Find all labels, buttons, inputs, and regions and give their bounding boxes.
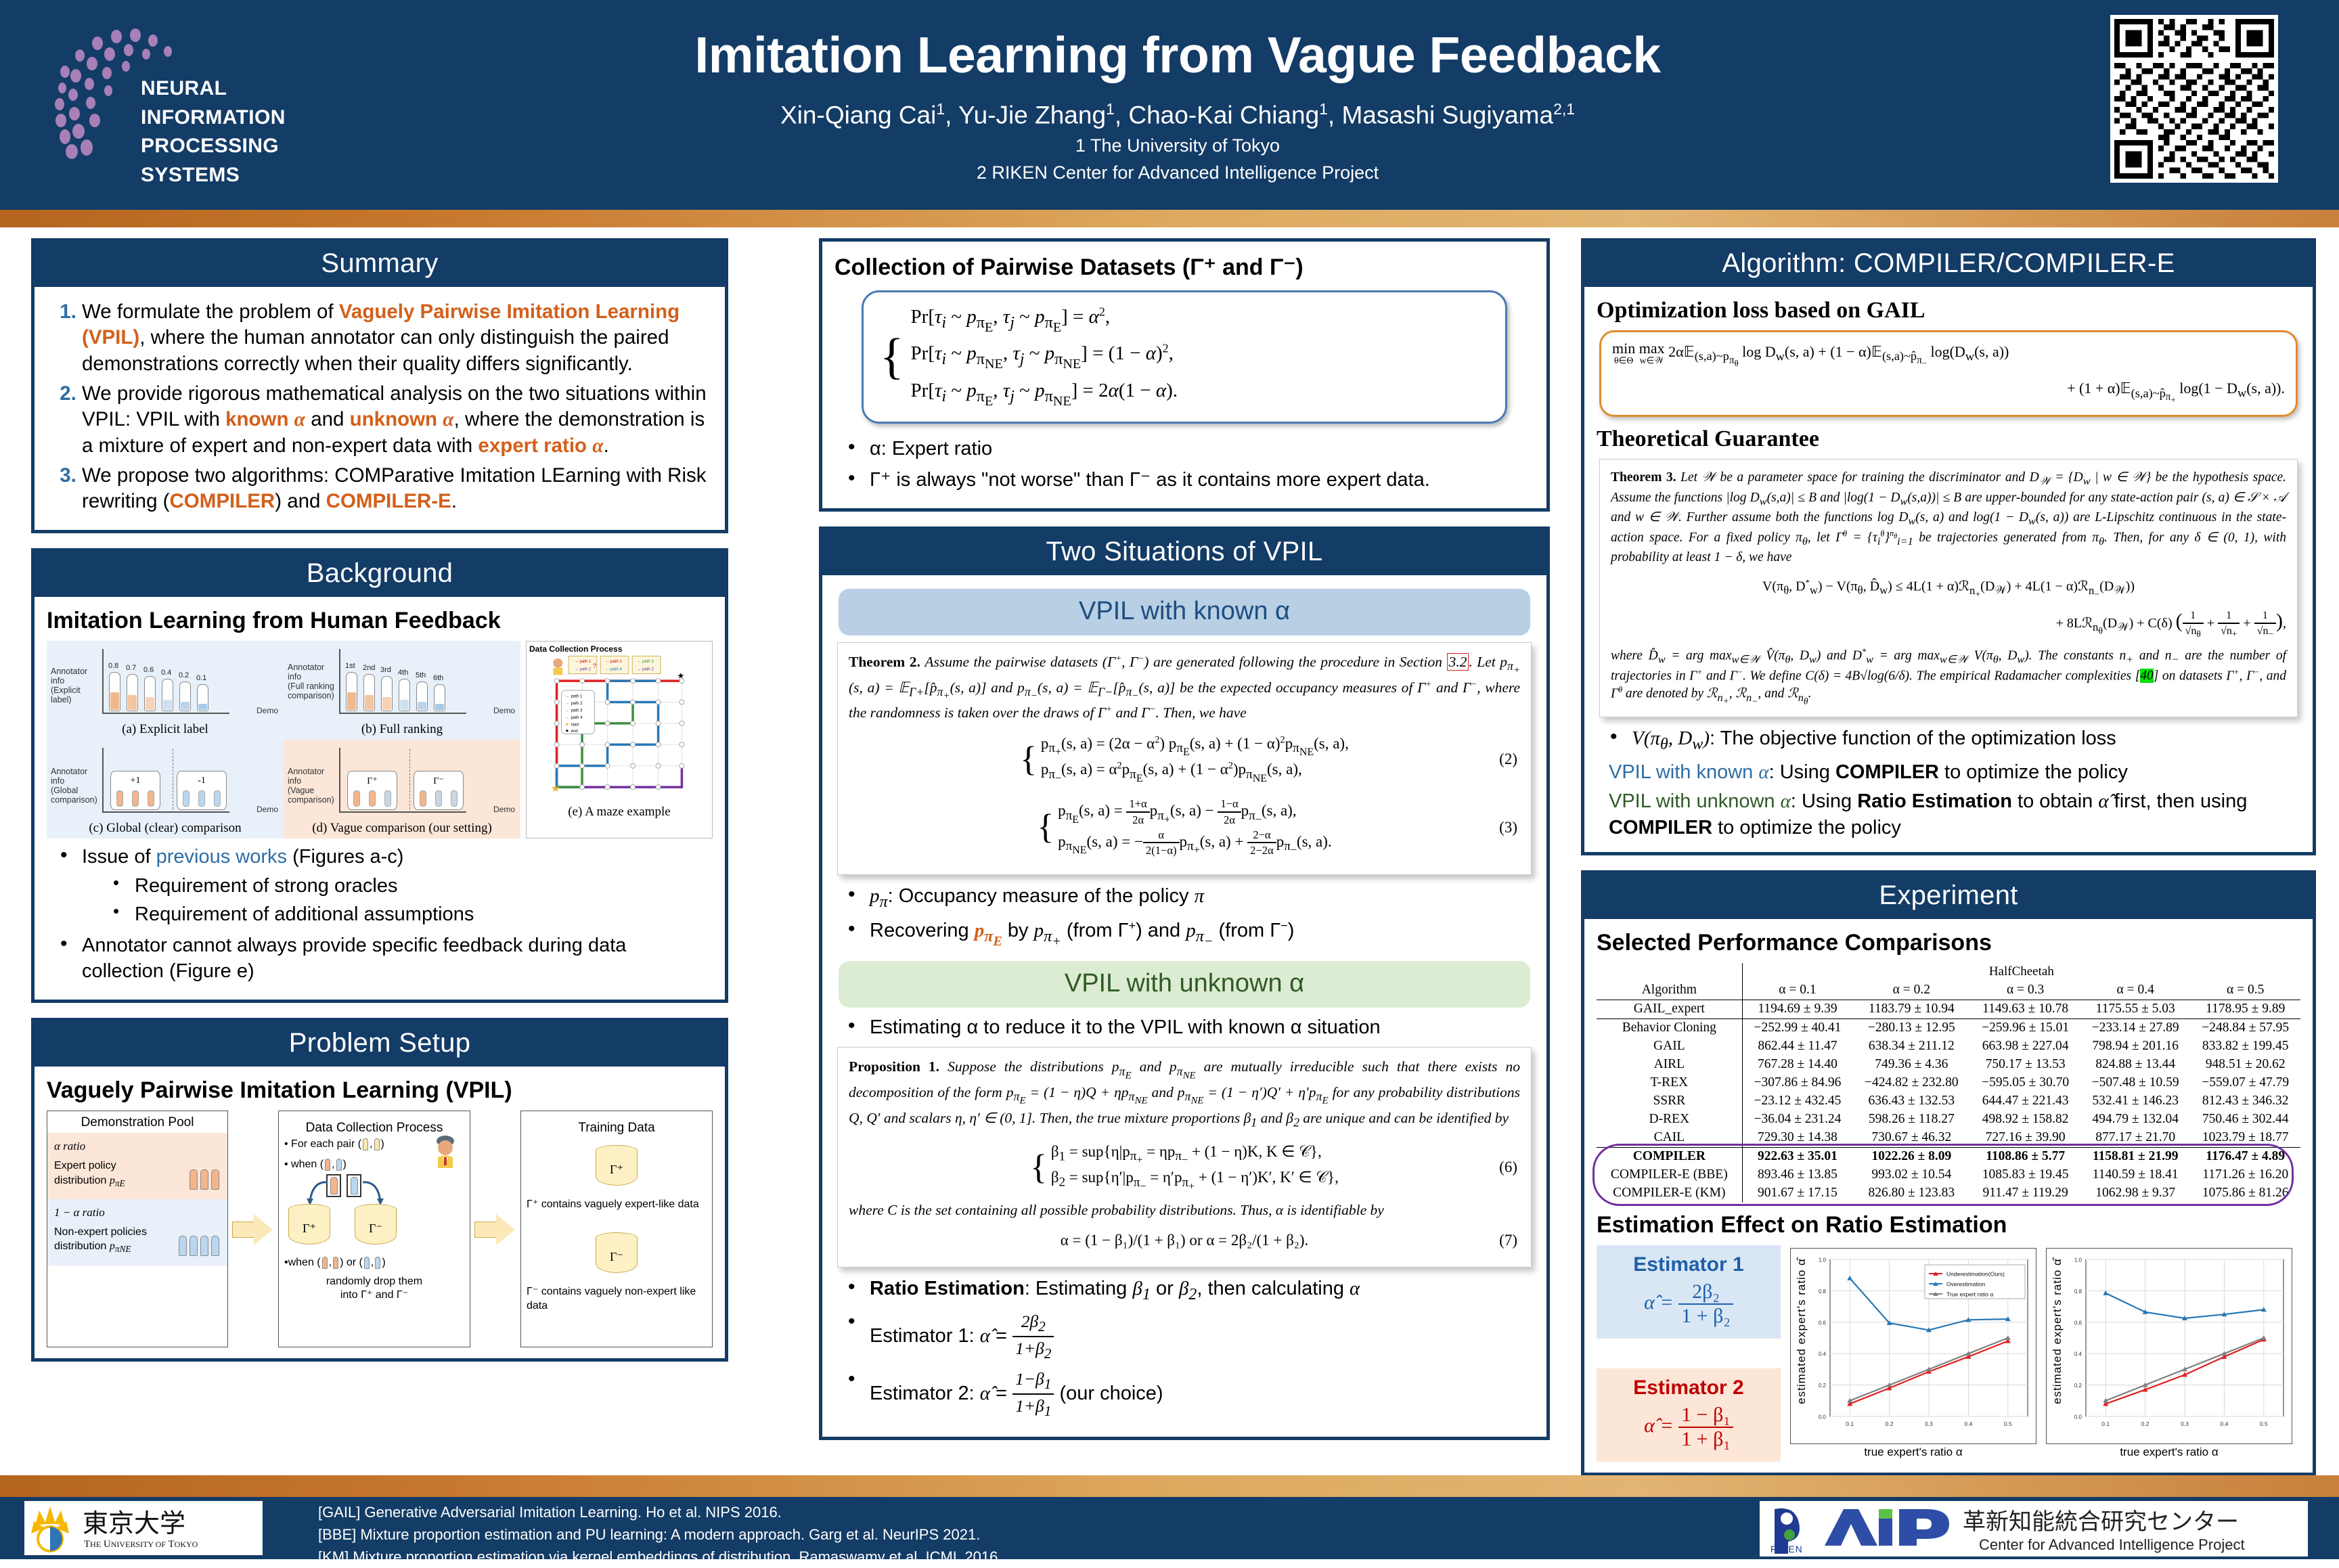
table-cell-value: 498.92 ± 158.82 [1970, 1111, 2080, 1129]
table-row: COMPILER-E (KM)901.67 ± 17.15826.80 ± 12… [1597, 1184, 2300, 1203]
svg-text:0.4: 0.4 [2074, 1351, 2082, 1358]
svg-text:★: ★ [565, 728, 569, 734]
figure-c-value-2: -1 [177, 776, 226, 786]
theorem-3-citation[interactable]: 40 [2140, 669, 2154, 683]
collection-gamma-plus: Γ⁺ [288, 1222, 330, 1236]
figure-c-annot-1: Annotator info [51, 767, 101, 786]
figure-d-annot-1: Annotator info [288, 767, 338, 786]
maze-diagram-icon: → path 1→ path 2 ? → path 1→ path 4 → pa… [529, 654, 709, 801]
table-cell-value: 893.46 ± 13.85 [1742, 1166, 1852, 1184]
summary-item-1: We formulate the problem of Vaguely Pair… [82, 299, 713, 377]
figure-a-explicit-label: Annotator info (Explicit label) Demo 0.8… [47, 641, 284, 740]
svg-text:★: ★ [551, 783, 560, 794]
reference-gail: [GAIL] Generative Adversarial Imitation … [318, 1501, 1002, 1523]
theorem-3-body: Let 𝒲 be a parameter space for training … [1611, 470, 2286, 564]
summary-highlight-vpil: Vaguely Pairwise Imitation Learning (VPI… [82, 300, 680, 349]
table-cell-value: −307.86 ± 84.96 [1742, 1074, 1852, 1092]
performance-table-wrap: HalfCheetah Algorithm α = 0.1 α = 0.2 α … [1597, 963, 2300, 1203]
experiment-subhead-charts: Estimation Effect on Ratio Estimation [1597, 1212, 2300, 1238]
table-cell-algorithm: D-REX [1597, 1111, 1742, 1129]
table-row: COMPILER922.63 ± 35.011022.26 ± 8.091108… [1597, 1147, 2300, 1166]
pairwise-eq-1: Pr[τi ~ pπE, τj ~ pπE] = α2, [911, 302, 1178, 338]
svg-text:→ path 1: → path 1 [605, 659, 622, 664]
table-cell-value: 1062.98 ± 9.37 [2080, 1184, 2191, 1203]
estimator-1-title: Estimator 1 [1601, 1253, 1777, 1276]
svg-text:→: → [565, 715, 569, 720]
estimator-1-formula: α̂ = 2β₂1 + β₂ [1601, 1280, 1777, 1328]
table-row: SSRR−23.12 ± 432.45636.43 ± 132.53644.47… [1597, 1092, 2300, 1111]
table-cell-value: 911.47 ± 119.29 [1970, 1184, 2080, 1203]
right-column: Algorithm: COMPILER/COMPILER-E Optimizat… [1581, 238, 2316, 1491]
table-cell-algorithm: GAIL [1597, 1037, 1742, 1056]
annotator-avatar [430, 1134, 460, 1171]
chart-1-xlabel: true expert's ratio α [1790, 1446, 2036, 1459]
proposition-1-label: Proposition 1. [849, 1058, 939, 1075]
table-row: D-REX−36.04 ± 231.24598.26 ± 118.27498.9… [1597, 1111, 2300, 1129]
riken-aip-logo-icon: RIKEN 革新知能統合研究センター Center for Advanced I… [1760, 1501, 2308, 1556]
chart-1-container: estimated expert's ratio α̂ 0.00.20.40.6… [1790, 1248, 2036, 1459]
poster-affiliation-2: 2 RIKEN Center for Advanced Intelligence… [582, 162, 1773, 183]
svg-text:RIKEN: RIKEN [1770, 1544, 1803, 1554]
proposition-1-equation-7: α = (1 − β₁)/(1 + β₁) or α = 2β₂/(1 + β₂… [849, 1230, 1520, 1251]
proposition-1-eq7-number: (7) [1499, 1230, 1517, 1251]
qr-code-icon [2114, 19, 2274, 179]
theorem-2-section-ref[interactable]: 3.2 [1447, 653, 1469, 671]
table-header-env-row: HalfCheetah [1597, 963, 2300, 981]
performance-table: HalfCheetah Algorithm α = 0.1 α = 0.2 α … [1597, 963, 2300, 1203]
theorem-2-body: Assume the pairwise datasets (Γ+, Γ−) ar… [849, 654, 1520, 721]
pool-expert-tubes [188, 1169, 221, 1190]
table-cell-value: 730.67 ± 46.32 [1852, 1129, 1970, 1148]
background-bullet-1-sub-2: Requirement of additional assumptions [112, 901, 713, 927]
table-cell-value: 922.63 ± 35.01 [1742, 1147, 1852, 1166]
svg-text:Underestimation(Ours): Underestimation(Ours) [1946, 1270, 2005, 1277]
svg-text:path 1: path 1 [571, 694, 583, 698]
chart-2-container: estimated expert's ratio α̂ 0.00.20.40.6… [2046, 1248, 2292, 1459]
figure-c-caption: (c) Global (clear) comparison [51, 821, 280, 836]
table-cell-value: 1085.83 ± 19.45 [1970, 1166, 2080, 1184]
algorithm-subhead-theory: Theoretical Guarantee [1597, 426, 2300, 452]
background-figure-grid: Annotator info (Explicit label) Demo 0.8… [47, 641, 520, 838]
unknown-bullet-1: Estimating α to reduce it to the VPIL wi… [845, 1014, 1534, 1040]
table-cell-value: −23.12 ± 432.45 [1742, 1092, 1852, 1111]
svg-text:Center for Advanced Intelligen: Center for Advanced Intelligence Project [1979, 1536, 2245, 1553]
poster-authors: Xin-Qiang Cai1, Yu-Jie Zhang1, Chao-Kai … [582, 100, 1773, 129]
theorem-2-eq2-number: (2) [1499, 749, 1517, 769]
svg-text:path 2: path 2 [571, 701, 583, 706]
theorem-2-label: Theorem 2. [849, 654, 920, 670]
table-cell-value: 1171.26 ± 16.20 [2190, 1166, 2300, 1184]
figure-b-annot-2: (Full ranking [288, 681, 338, 691]
svg-text:0.5: 0.5 [2004, 1420, 2012, 1427]
panel-background: Background Imitation Learning from Human… [31, 548, 728, 1003]
figure-d-caption: (d) Vague comparison (our setting) [288, 821, 516, 836]
figure-a-axis-label: Demo [257, 706, 278, 715]
collection-line-5: into Γ⁺ and Γ⁻ [284, 1288, 464, 1301]
panel-title-two-situations: Two Situations of VPIL [822, 530, 1546, 575]
svg-text:0.2: 0.2 [2074, 1383, 2082, 1389]
svg-text:0.2: 0.2 [1886, 1420, 1894, 1427]
theorem-2-eq3-number: (3) [1499, 817, 1517, 837]
banner-vpil-unknown-alpha: VPIL with unknown α [839, 961, 1530, 1008]
svg-text:1.0: 1.0 [2074, 1257, 2082, 1263]
panel-title-algorithm: Algorithm: COMPILER/COMPILER-E [1584, 242, 2313, 287]
table-col-header-a5: α = 0.5 [2190, 981, 2300, 1000]
svg-text:0.0: 0.0 [2074, 1414, 2082, 1420]
theorem-3-box: Theorem 3. Let 𝒲 be a parameter space fo… [1599, 459, 2298, 717]
table-cell-value: 636.43 ± 132.53 [1852, 1092, 1970, 1111]
table-cell-algorithm: Behavior Cloning [1597, 1018, 1742, 1037]
pool-expert-line1: Expert policy [54, 1159, 125, 1173]
table-cell-algorithm: COMPILER [1597, 1147, 1742, 1166]
chart-1-svg: 0.00.20.40.60.81.00.10.20.30.40.5Underes… [1791, 1249, 2037, 1445]
svg-text:path 3: path 3 [571, 708, 583, 713]
neurips-line-1: NEURAL INFORMATION [141, 74, 324, 132]
summary-highlight-known: known α [225, 408, 305, 430]
chart-1-plot: estimated expert's ratio α̂ 0.00.20.40.6… [1790, 1248, 2036, 1444]
figure-b-annot-3: comparison) [288, 691, 338, 700]
background-figure: Annotator info (Explicit label) Demo 0.8… [47, 641, 713, 838]
collection-bullets: α: Expert ratio Γ⁺ is always "not worse"… [834, 436, 1534, 493]
references-list: [GAIL] Generative Adversarial Imitation … [318, 1501, 1002, 1568]
table-cell-value: −259.96 ± 15.01 [1970, 1018, 2080, 1037]
problem-setup-figure: Demonstration Pool α ratio Expert policy… [47, 1111, 713, 1347]
collection-gamma-minus: Γ⁻ [355, 1222, 397, 1236]
figure-b-axis-label: Demo [493, 706, 515, 715]
svg-text:0.5: 0.5 [2260, 1420, 2268, 1427]
proposition-1-equation-6: { β1 = sup{η|pπ+ = ηpπ− + (1 − η)K, K ∈ … [849, 1142, 1520, 1194]
background-prevworks-link: previous works [156, 846, 287, 868]
svg-text:0.8: 0.8 [2074, 1289, 2082, 1295]
reference-km: [KM] Mixture proportion estimation via k… [318, 1546, 1002, 1568]
table-row: T-REX−307.86 ± 84.96−424.82 ± 232.80−595… [1597, 1074, 2300, 1092]
algorithm-line-unknown: VPIL with unknown α: Using Ratio Estimat… [1609, 788, 2300, 841]
collection-line-4: randomly drop them [284, 1276, 464, 1288]
estimator-2-title: Estimator 2 [1601, 1376, 1777, 1399]
collection-bullet-1: α: Expert ratio [845, 436, 1534, 462]
table-cell-value: 663.98 ± 227.04 [1970, 1037, 2080, 1056]
figure-d-axis-label: Demo [493, 805, 515, 814]
poster-affiliation-1: 1 The University of Tokyo [582, 135, 1773, 156]
svg-text:0.3: 0.3 [1925, 1420, 1933, 1427]
table-col-header-algorithm: Algorithm [1597, 981, 1742, 1000]
collection-line-3: •when (,) or (,) [284, 1257, 464, 1269]
training-desc-minus: Γ⁻ contains vaguely non-expert like data [527, 1285, 707, 1314]
svg-text:0.4: 0.4 [1964, 1420, 1972, 1427]
problem-setup-subhead: Vaguely Pairwise Imitation Learning (VPI… [47, 1077, 713, 1104]
table-col-header-a3: α = 0.3 [1970, 981, 2080, 1000]
neurips-line-2: PROCESSING SYSTEMS [141, 132, 324, 189]
pool-nonexpert-ratio: 1 − α ratio [54, 1206, 221, 1219]
svg-text:0.4: 0.4 [1819, 1351, 1827, 1358]
svg-text:Overestimation: Overestimation [1946, 1280, 1985, 1287]
theorem-3-label: Theorem 3. [1611, 470, 1676, 485]
figure-c-global-comparison: Annotator info (Global comparison) Demo … [47, 740, 284, 838]
figure-c-axis-label: Demo [257, 805, 278, 814]
svg-text:→: → [565, 708, 569, 713]
svg-text:0.6: 0.6 [2074, 1320, 2082, 1326]
panel-summary: Summary We formulate the problem of Vagu… [31, 238, 728, 533]
algorithm-bullets: V(πθ, Dw): The objective function of the… [1597, 725, 2300, 755]
pool-nonexpert-line1: Non-expert policies [54, 1225, 147, 1240]
figure-d-value-1: Γ⁺ [348, 776, 397, 787]
brace-icon: { [880, 342, 904, 373]
table-cell-algorithm: SSRR [1597, 1092, 1742, 1111]
background-bullet-1: Issue of previous works (Figures a-c) Re… [58, 844, 713, 928]
arrow-pool-to-collection [232, 1213, 274, 1245]
svg-text:0.0: 0.0 [1819, 1414, 1827, 1420]
panel-experiment: Experiment Selected Performance Comparis… [1581, 870, 2316, 1476]
table-row: CAIL729.30 ± 14.38730.67 ± 46.32727.16 ±… [1597, 1129, 2300, 1148]
table-row: Behavior Cloning−252.99 ± 40.41−280.13 ±… [1597, 1018, 2300, 1037]
table-cell-value: 532.41 ± 146.23 [2080, 1092, 2191, 1111]
cylinder-gamma-plus-collection: Γ⁺ [288, 1204, 330, 1249]
panel-title-summary: Summary [35, 242, 725, 287]
table-cell-value: 750.46 ± 302.44 [2190, 1111, 2300, 1129]
svg-text:start: start [571, 722, 579, 727]
table-col-header-a2: α = 0.2 [1852, 981, 1970, 1000]
panel-algorithm: Algorithm: COMPILER/COMPILER-E Optimizat… [1581, 238, 2316, 855]
estimator-bullet-2: Estimator 2: α̂ = 1−β11+β1 (our choice) [845, 1368, 1534, 1420]
table-env-name: HalfCheetah [1742, 963, 2300, 981]
table-cell-value: 826.80 ± 123.83 [1852, 1184, 1970, 1203]
summary-item-2: We provide rigorous mathematical analysi… [82, 381, 713, 459]
svg-text:0.3: 0.3 [2181, 1420, 2189, 1427]
training-data-box: Training Data Γ⁺ Γ⁺ contains vaguely exp… [520, 1111, 713, 1347]
figure-a-annot-2: (Explicit label) [51, 686, 101, 704]
summary-list: We formulate the problem of Vaguely Pair… [47, 299, 713, 515]
table-cell-value: −507.48 ± 10.59 [2080, 1074, 2191, 1092]
poster-title: Imitation Learning from Vague Feedback [650, 26, 1706, 84]
table-cell-value: 767.28 ± 14.40 [1742, 1056, 1852, 1074]
table-cell-value: −559.07 ± 47.79 [2190, 1074, 2300, 1092]
table-cell-algorithm: T-REX [1597, 1074, 1742, 1092]
table-cell-value: −595.05 ± 30.70 [1970, 1074, 2080, 1092]
svg-text:THE UNIVERSITY OF TOKYO: THE UNIVERSITY OF TOKYO [84, 1539, 198, 1550]
table-col-header-a1: α = 0.1 [1742, 981, 1852, 1000]
performance-table-body: GAIL_expert1194.69 ± 9.391183.79 ± 10.94… [1597, 1000, 2300, 1203]
table-cell-algorithm: AIRL [1597, 1056, 1742, 1074]
figure-d-value-2: Γ⁻ [414, 776, 463, 787]
estimator-2-num: 1 − β₁ [1678, 1404, 1733, 1427]
figure-e-caption: (e) A maze example [529, 805, 709, 820]
table-cell-value: 993.02 ± 10.54 [1852, 1166, 1970, 1184]
cylinder-gamma-minus-collection: Γ⁻ [355, 1204, 397, 1249]
table-cell-value: 1140.59 ± 18.41 [2080, 1166, 2191, 1184]
riken-aip-logo: RIKEN 革新知能統合研究センター Center for Advanced I… [1760, 1501, 2308, 1556]
svg-text:→ path 2: → path 2 [575, 667, 592, 671]
pool-expert-sub: πE [115, 1178, 125, 1188]
chart-2-plot: estimated expert's ratio α̂ 0.00.20.40.6… [2046, 1248, 2292, 1444]
svg-text:0.1: 0.1 [2101, 1420, 2110, 1427]
table-cell-value: 729.30 ± 14.38 [1742, 1129, 1852, 1148]
table-cell-value: −248.84 ± 57.95 [2190, 1018, 2300, 1037]
svg-text:?: ? [593, 663, 596, 670]
collection-subhead: Collection of Pairwise Datasets (Γ⁺ and … [834, 254, 1534, 281]
table-header-alpha-row: Algorithm α = 0.1 α = 0.2 α = 0.3 α = 0.… [1597, 981, 2300, 1000]
svg-text:東京大学: 東京大学 [83, 1508, 185, 1538]
theorem-3-equation-line-1: V(πθ, D*w) − V(πθ, D̂w) ≤ 4L(1 + α)ℛn+(D… [1611, 577, 2286, 601]
figure-d-vague-comparison: Annotator info (Vague comparison) Demo Γ… [284, 740, 520, 838]
theorem-2-box: Theorem 2. Assume the pairwise datasets … [837, 642, 1532, 875]
qr-code[interactable] [2110, 15, 2278, 183]
svg-text:★: ★ [565, 721, 569, 727]
known-alpha-bullets: pπ: Occupancy measure of the policy π Re… [834, 883, 1534, 950]
figure-a-annot-1: Annotator info [51, 667, 101, 686]
pool-expert-line2: distribution pπE [54, 1173, 125, 1190]
svg-text:0.2: 0.2 [2141, 1420, 2149, 1427]
panel-title-background: Background [35, 552, 725, 597]
training-gamma-minus: Γ⁻ [596, 1250, 638, 1264]
figure-d-annot-2: (Vague comparison) [288, 786, 338, 805]
svg-text:0.8: 0.8 [1819, 1289, 1827, 1295]
estimator-1-card: Estimator 1 α̂ = 2β₂1 + β₂ [1597, 1245, 1781, 1339]
proposition-1-eq7-text: α = (1 − β₁)/(1 + β₁) or α = 2β₂/(1 + β₂… [1061, 1232, 1308, 1249]
table-cell-value: 1023.79 ± 18.77 [2190, 1129, 2300, 1148]
known-bullet-2: Recovering pπE by pπ+ (from Γ+) and pπ− … [845, 918, 1534, 950]
table-cell-value: 1108.86 ± 5.77 [1970, 1147, 2080, 1166]
table-cell-value: 749.36 ± 4.36 [1852, 1056, 1970, 1074]
table-cell-value: 644.47 ± 221.43 [1970, 1092, 2080, 1111]
table-cell-value: 948.51 ± 20.62 [2190, 1056, 2300, 1074]
table-row: GAIL862.44 ± 11.47638.34 ± 211.12663.98 … [1597, 1037, 2300, 1056]
table-cell-value: −36.04 ± 231.24 [1742, 1111, 1852, 1129]
estimator-1-num: 2β₂ [1678, 1280, 1733, 1303]
neurips-wordmark: NEURAL INFORMATION PROCESSING SYSTEMS [141, 74, 324, 189]
table-cell-value: 1022.26 ± 8.09 [1852, 1147, 1970, 1166]
summary-highlight-compiler-e: COMPILER-E [326, 490, 451, 512]
pool-nonexpert-region: 1 − α ratio Non-expert policies distribu… [47, 1199, 227, 1265]
table-cell-value: 1178.95 ± 9.89 [2190, 1000, 2300, 1018]
left-column: Summary We formulate the problem of Vagu… [31, 238, 728, 1376]
table-cell-value: 901.67 ± 17.15 [1742, 1184, 1852, 1203]
table-cell-algorithm: GAIL_expert [1597, 1000, 1742, 1018]
banner-vpil-known-alpha: VPIL with known α [839, 589, 1530, 635]
pairwise-eq-3: Pr[τi ~ pπE, τj ~ pπNE] = 2α(1 − α). [911, 376, 1178, 412]
table-cell-value: −252.99 ± 40.41 [1742, 1018, 1852, 1037]
figure-c-value-1: +1 [111, 776, 160, 786]
algorithm-line-known: VPIL with known α: Using COMPILER to opt… [1609, 759, 2300, 786]
cylinder-gamma-minus-training: Γ⁻ [596, 1232, 638, 1277]
svg-text:→ path 1: → path 1 [575, 659, 592, 664]
panel-two-situations: Two Situations of VPIL VPIL with known α… [819, 527, 1550, 1440]
estimator-2-card: Estimator 2 α̂ = 1 − β₁1 + β₁ [1597, 1368, 1781, 1462]
table-cell-value: 798.94 ± 201.16 [2080, 1037, 2191, 1056]
table-cell-value: 598.26 ± 118.27 [1852, 1111, 1970, 1129]
table-cell-value: 1183.79 ± 10.94 [1852, 1000, 1970, 1018]
table-cell-value: 1176.47 ± 4.89 [2190, 1147, 2300, 1166]
background-bullets: Issue of previous works (Figures a-c) Re… [47, 844, 713, 984]
svg-text:★: ★ [677, 671, 684, 680]
svg-text:0.1: 0.1 [1846, 1420, 1854, 1427]
svg-text:1.0: 1.0 [1819, 1257, 1827, 1263]
background-subhead: Imitation Learning from Human Feedback [47, 608, 713, 634]
table-cell-value: −233.14 ± 27.89 [2080, 1018, 2191, 1037]
estimator-bullets: Ratio Estimation: Estimating β1 or β2, t… [834, 1276, 1534, 1420]
pairwise-probability-equations: { Pr[τi ~ pπE, τj ~ pπE] = α2, Pr[τi ~ p… [862, 290, 1507, 424]
estimator-2-formula: α̂ = 1 − β₁1 + β₁ [1601, 1404, 1777, 1451]
training-data-title: Training Data [527, 1121, 707, 1136]
estimator-cards: Estimator 1 α̂ = 2β₂1 + β₂ Estimator 2 α… [1597, 1245, 1781, 1462]
estimator-2-lhs: α̂ = [1644, 1414, 1674, 1437]
middle-column: Collection of Pairwise Datasets (Γ⁺ and … [819, 238, 1550, 1455]
table-cell-value: 877.17 ± 21.70 [2080, 1129, 2191, 1148]
theorem-3-equation-line-2: + 8Lℛnθ(D𝒲) + C(δ) (1√nθ + 1√n+ + 1√n−), [1611, 608, 2286, 640]
demonstration-pool-box: Demonstration Pool α ratio Expert policy… [47, 1111, 228, 1347]
algorithm-bullet-1: V(πθ, Dw): The objective function of the… [1607, 725, 2300, 755]
theorem-2-equation-3: { pπE(s, a) = 1+α2αpπ+(s, a) − 1−α2αpπ−(… [849, 797, 1520, 858]
svg-text:革新知能統合研究センター: 革新知能統合研究センター [1963, 1508, 2239, 1536]
svg-text:→: → [565, 694, 569, 698]
poster-root: NEURAL INFORMATION PROCESSING SYSTEMS Im… [0, 0, 2339, 1559]
svg-text:True expert ratio α: True expert ratio α [1946, 1291, 1993, 1297]
panel-collection-pairwise: Collection of Pairwise Datasets (Γ⁺ and … [819, 238, 1550, 512]
svg-text:end: end [571, 729, 577, 734]
arrow-collection-to-training [474, 1213, 516, 1245]
figure-a-caption: (a) Explicit label [51, 722, 280, 737]
figure-b-annot-1: Annotator info [288, 663, 338, 681]
pool-nonexpert-line2: distribution pπNE [54, 1239, 147, 1255]
figure-e-maze-example: Data Collection Process → path 1→ path 2… [526, 641, 713, 838]
utokyo-logo: 東京大学 THE UNIVERSITY OF TOKYO [24, 1501, 263, 1555]
table-cell-value: −424.82 ± 232.80 [1852, 1074, 1970, 1092]
table-cell-value: 494.79 ± 132.04 [2080, 1111, 2191, 1129]
chart-2-svg: 0.00.20.40.60.81.00.10.20.30.40.5 [2047, 1249, 2293, 1445]
estimation-charts-row: Estimator 1 α̂ = 2β₂1 + β₂ Estimator 2 α… [1597, 1245, 2300, 1462]
svg-text:→ path 2: → path 2 [637, 667, 654, 671]
table-cell-value: 727.16 ± 39.90 [1970, 1129, 2080, 1148]
table-row: AIRL767.28 ± 14.40749.36 ± 4.36750.17 ± … [1597, 1056, 2300, 1074]
background-bullet-1-sub-1: Requirement of strong oracles [112, 873, 713, 899]
table-cell-algorithm: CAIL [1597, 1129, 1742, 1148]
data-collection-title: Data Collection Process [284, 1121, 464, 1136]
pool-expert-ratio: α ratio [54, 1140, 221, 1153]
table-cell-value: 750.17 ± 13.53 [1970, 1056, 2080, 1074]
figure-b-full-ranking: Annotator info (Full ranking comparison)… [284, 641, 520, 740]
utokyo-logo-icon: 東京大学 THE UNIVERSITY OF TOKYO [24, 1501, 263, 1555]
table-cell-value: 812.43 ± 346.32 [2190, 1092, 2300, 1111]
panel-title-problem-setup: Problem Setup [35, 1021, 725, 1067]
proposition-1-eq6-number: (6) [1499, 1157, 1517, 1178]
panel-problem-setup: Problem Setup Vaguely Pairwise Imitation… [31, 1018, 728, 1362]
estimator-bullet-1: Estimator 1: α̂ = 2β21+β2 [845, 1310, 1534, 1363]
footer-accent-bar [0, 1475, 2339, 1497]
figure-b-caption: (b) Full ranking [288, 722, 516, 737]
training-desc-plus: Γ⁺ contains vaguely expert-like data [527, 1198, 707, 1212]
table-cell-value: 638.34 ± 211.12 [1852, 1037, 1970, 1056]
chart-2-xlabel: true expert's ratio α [2046, 1446, 2292, 1459]
table-cell-value: 833.82 ± 199.45 [2190, 1037, 2300, 1056]
algorithm-subhead-loss: Optimization loss based on GAIL [1597, 298, 2300, 323]
panel-title-experiment: Experiment [1584, 874, 2313, 919]
theorem-2-equation-2: { pπ+(s, a) = (2α − α2) pπE(s, a) + (1 −… [849, 734, 1520, 786]
figure-c-annot-2: (Global comparison) [51, 786, 101, 805]
proposition-1-body: Suppose the distributions pπE and pπNE a… [849, 1058, 1520, 1125]
summary-highlight-compiler: COMPILER [170, 490, 275, 512]
table-cell-value: 1149.63 ± 10.78 [1970, 1000, 2080, 1018]
training-gamma-plus: Γ⁺ [596, 1163, 638, 1177]
optimization-loss-box: minθ∈Θ maxw∈𝒲 2α𝔼(s,a)~pπθ log Dw(s, a) … [1599, 330, 2298, 417]
background-bullet-2: Annotator cannot always provide specific… [58, 933, 713, 985]
pool-nonexpert-sub: πNE [115, 1245, 131, 1255]
header-accent-bar [0, 210, 2339, 227]
poster-header: NEURAL INFORMATION PROCESSING SYSTEMS Im… [0, 0, 2339, 210]
table-cell-value: −280.13 ± 12.95 [1852, 1018, 1970, 1037]
data-collection-box: Data Collection Process • For each pair … [278, 1111, 470, 1347]
svg-text:0.2: 0.2 [1819, 1383, 1827, 1389]
table-cell-algorithm: COMPILER-E (KM) [1597, 1184, 1742, 1203]
theorem-3-where: where D̂w = arg maxw∈𝒲 V̂(πθ, Dw) and D*… [1611, 647, 2286, 707]
